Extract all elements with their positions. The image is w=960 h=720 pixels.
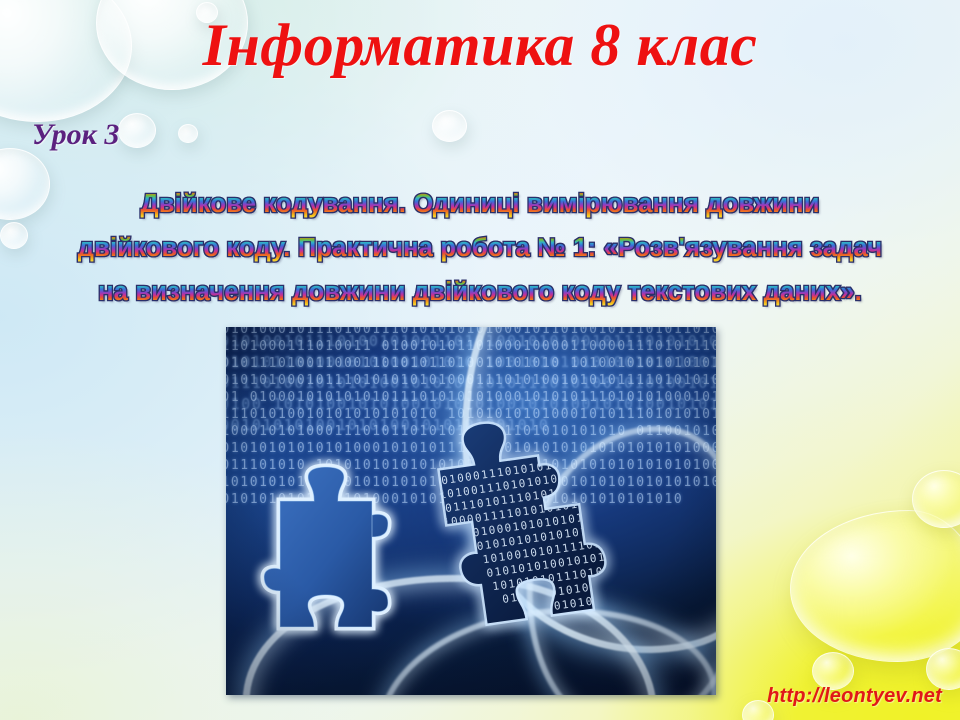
binary-digits-overlay: 0010100010111010011101010101010001011010… bbox=[226, 327, 716, 508]
slide-title: Інформатика 8 клас bbox=[0, 14, 960, 77]
bubble-decoration bbox=[432, 110, 467, 142]
bubble-decoration bbox=[178, 124, 198, 143]
binary-puzzle-image: 0101001011101001010011010100101010010111… bbox=[226, 327, 716, 695]
lesson-label: Урок 3 bbox=[32, 118, 119, 152]
topic-line-2: двійкового коду. Практична робота № 1: «… bbox=[0, 226, 960, 270]
topic-line-1: Двійкове кодування. Одиниці вимірювання … bbox=[0, 182, 960, 226]
topic-line-2-fill: двійкового коду. Практична робота № 1: «… bbox=[78, 234, 883, 262]
footer-url: http://leontyev.net bbox=[767, 685, 942, 708]
bubble-decoration bbox=[118, 113, 156, 148]
droplet-decoration bbox=[912, 470, 960, 528]
topic-line-1-fill: Двійкове кодування. Одиниці вимірювання … bbox=[140, 190, 819, 218]
droplet-decoration bbox=[926, 648, 960, 690]
presentation-slide: Інформатика 8 клас Урок 3 Двійкове кодув… bbox=[0, 0, 960, 720]
topic-line-3-fill: на визначення довжини двійкового коду те… bbox=[98, 278, 862, 306]
topic-wordart: Двійкове кодування. Одиниці вимірювання … bbox=[0, 182, 960, 314]
droplet-decoration-large bbox=[790, 510, 960, 662]
topic-line-3: на визначення довжини двійкового коду те… bbox=[0, 270, 960, 314]
